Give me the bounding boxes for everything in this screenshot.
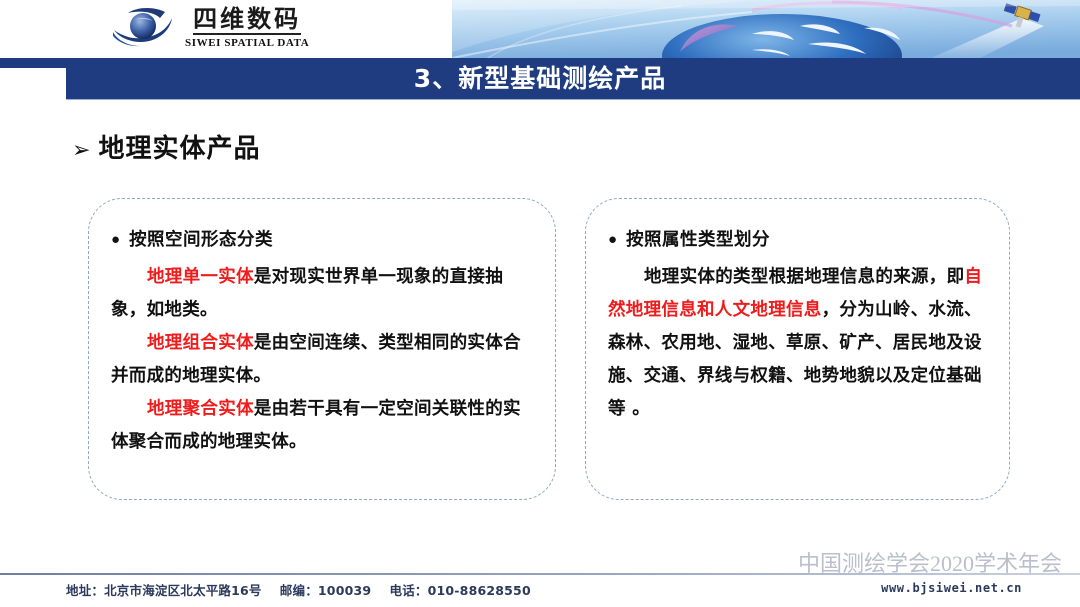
paragraph-list-left: 地理单一实体是对现实世界单一现象的直接抽象，如地类。地理组合实体是由空间连续、类… — [111, 261, 535, 459]
footer-divider — [0, 573, 1080, 575]
bullet-label-right: 按照属性类型划分 — [626, 227, 770, 253]
section-heading: ➢ 地理实体产品 — [72, 128, 260, 165]
highlighted-term: 地理组合实体 — [147, 333, 254, 353]
arrow-bullet-icon: ➢ — [72, 139, 90, 161]
paragraph: 地理实体的类型根据地理信息的来源，即自然地理信息和人文地理信息，分为山岭、水流、… — [608, 261, 989, 426]
highlighted-term: 地理聚合实体 — [147, 399, 254, 419]
slide-canvas: 四维数码 SIWEI SPATIAL DATA — [0, 0, 1080, 607]
paragraph: 地理组合实体是由空间连续、类型相同的实体合并而成的地理实体。 — [111, 327, 535, 393]
bullet-heading-left: ● 按照空间形态分类 — [111, 227, 535, 253]
footer-contact: 地址：北京市海淀区北太平路16号 邮编：100039 电话：010-886285… — [66, 580, 531, 599]
content-box-attribute-type: ● 按照属性类型划分 地理实体的类型根据地理信息的来源，即自然地理信息和人文地理… — [585, 198, 1010, 500]
company-name-en: SIWEI SPATIAL DATA — [185, 37, 309, 49]
round-bullet-icon: ● — [111, 227, 120, 253]
content-box-left-inner: ● 按照空间形态分类 地理单一实体是对现实世界单一现象的直接抽象，如地类。地理组… — [89, 199, 555, 459]
paragraph: 地理单一实体是对现实世界单一现象的直接抽象，如地类。 — [111, 261, 535, 327]
company-name-cn: 四维数码 — [193, 7, 301, 35]
content-box-right-inner: ● 按照属性类型划分 地理实体的类型根据地理信息的来源，即自然地理信息和人文地理… — [586, 199, 1009, 426]
company-logo: 四维数码 SIWEI SPATIAL DATA — [110, 6, 309, 50]
globe-satellite-banner-icon — [452, 0, 1080, 62]
footer-website[interactable]: www.bjsiwei.net.cn — [881, 581, 1022, 595]
logo-area: 四维数码 SIWEI SPATIAL DATA — [0, 0, 452, 62]
section-heading-label: 地理实体产品 — [98, 128, 260, 165]
highlighted-term: 地理单一实体 — [147, 267, 254, 287]
paragraph: 地理聚合实体是由若干具有一定空间关联性的实体聚合而成的地理实体。 — [111, 393, 535, 459]
title-bar-step — [0, 58, 68, 68]
siwei-swoosh-globe-logo-icon — [110, 6, 176, 50]
paragraph-list-right: 地理实体的类型根据地理信息的来源，即自然地理信息和人文地理信息，分为山岭、水流、… — [608, 261, 989, 426]
body-text: 地理实体的类型根据地理信息的来源，即 — [644, 267, 964, 287]
title-bar — [66, 58, 1080, 99]
logo-wordmark: 四维数码 SIWEI SPATIAL DATA — [185, 7, 309, 49]
bullet-heading-right: ● 按照属性类型划分 — [608, 227, 989, 253]
round-bullet-icon: ● — [608, 227, 617, 253]
content-box-spatial-form: ● 按照空间形态分类 地理单一实体是对现实世界单一现象的直接抽象，如地类。地理组… — [88, 198, 556, 500]
bullet-label-left: 按照空间形态分类 — [129, 227, 273, 253]
